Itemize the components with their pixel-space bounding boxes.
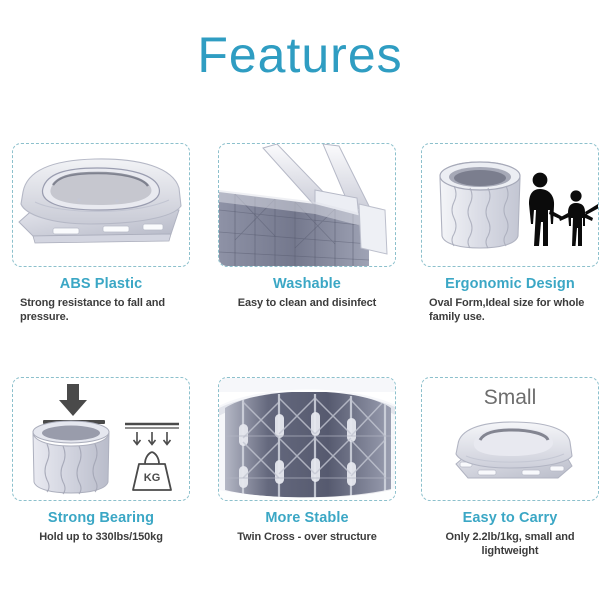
twin-cross-structure-icon [219,378,395,500]
feature-heading: Ergonomic Design [421,276,599,293]
feature-image-frame [218,377,396,501]
kg-label: KG [144,472,161,484]
folded-toilet-small-icon [422,378,598,500]
folded-toilet-closed-icon [13,144,189,266]
feature-description: Strong resistance to fall and pressure. [12,297,190,324]
feature-text: ABS Plastic Strong resistance to fall an… [12,276,190,324]
feature-image-frame [421,143,599,267]
feature-card-ergonomic-design[interactable]: Ergonomic Design Oval Form,Ideal size fo… [421,143,599,324]
feature-heading: Washable [218,276,396,293]
feature-heading: ABS Plastic [12,276,190,293]
feature-image-frame: KG [12,377,190,501]
feature-heading: Strong Bearing [12,510,190,527]
feature-description: Oval Form,Ideal size for whole family us… [421,297,599,324]
feature-heading: More Stable [218,510,396,527]
toilet-lid-open-icon [219,144,395,266]
feature-heading: Easy to Carry [421,510,599,527]
toilet-bucket-with-family-icon [422,144,598,266]
feature-image-frame [218,143,396,267]
features-infographic: Features [0,0,600,600]
feature-description: Hold up to 330lbs/150kg [12,531,190,545]
feature-card-abs-plastic[interactable]: ABS Plastic Strong resistance to fall an… [12,143,190,324]
features-grid: ABS Plastic Strong resistance to fall an… [0,0,600,600]
feature-description: Twin Cross - over structure [218,531,396,545]
feature-image-frame: Small [421,377,599,501]
feature-card-more-stable[interactable]: More Stable Twin Cross - over structure [218,377,396,545]
feature-description: Easy to clean and disinfect [218,297,396,311]
feature-text: Strong Bearing Hold up to 330lbs/150kg [12,510,190,545]
feature-text: Easy to Carry Only 2.2lb/1kg, small and … [421,510,599,558]
feature-card-washable[interactable]: Washable Easy to clean and disinfect [218,143,396,311]
feature-text: Ergonomic Design Oval Form,Ideal size fo… [421,276,599,324]
feature-image-frame [12,143,190,267]
feature-card-easy-to-carry[interactable]: Small [421,377,599,558]
feature-card-strong-bearing[interactable]: KG Strong Bearing Hold up to 330lbs/150k… [12,377,190,545]
down-arrow [59,384,87,416]
feature-text: More Stable Twin Cross - over structure [218,510,396,545]
feature-description: Only 2.2lb/1kg, small and lightweight [421,531,599,558]
feature-text: Washable Easy to clean and disinfect [218,276,396,311]
family-silhouette [529,170,598,246]
toilet-with-weight-arrow-icon: KG [13,378,189,500]
